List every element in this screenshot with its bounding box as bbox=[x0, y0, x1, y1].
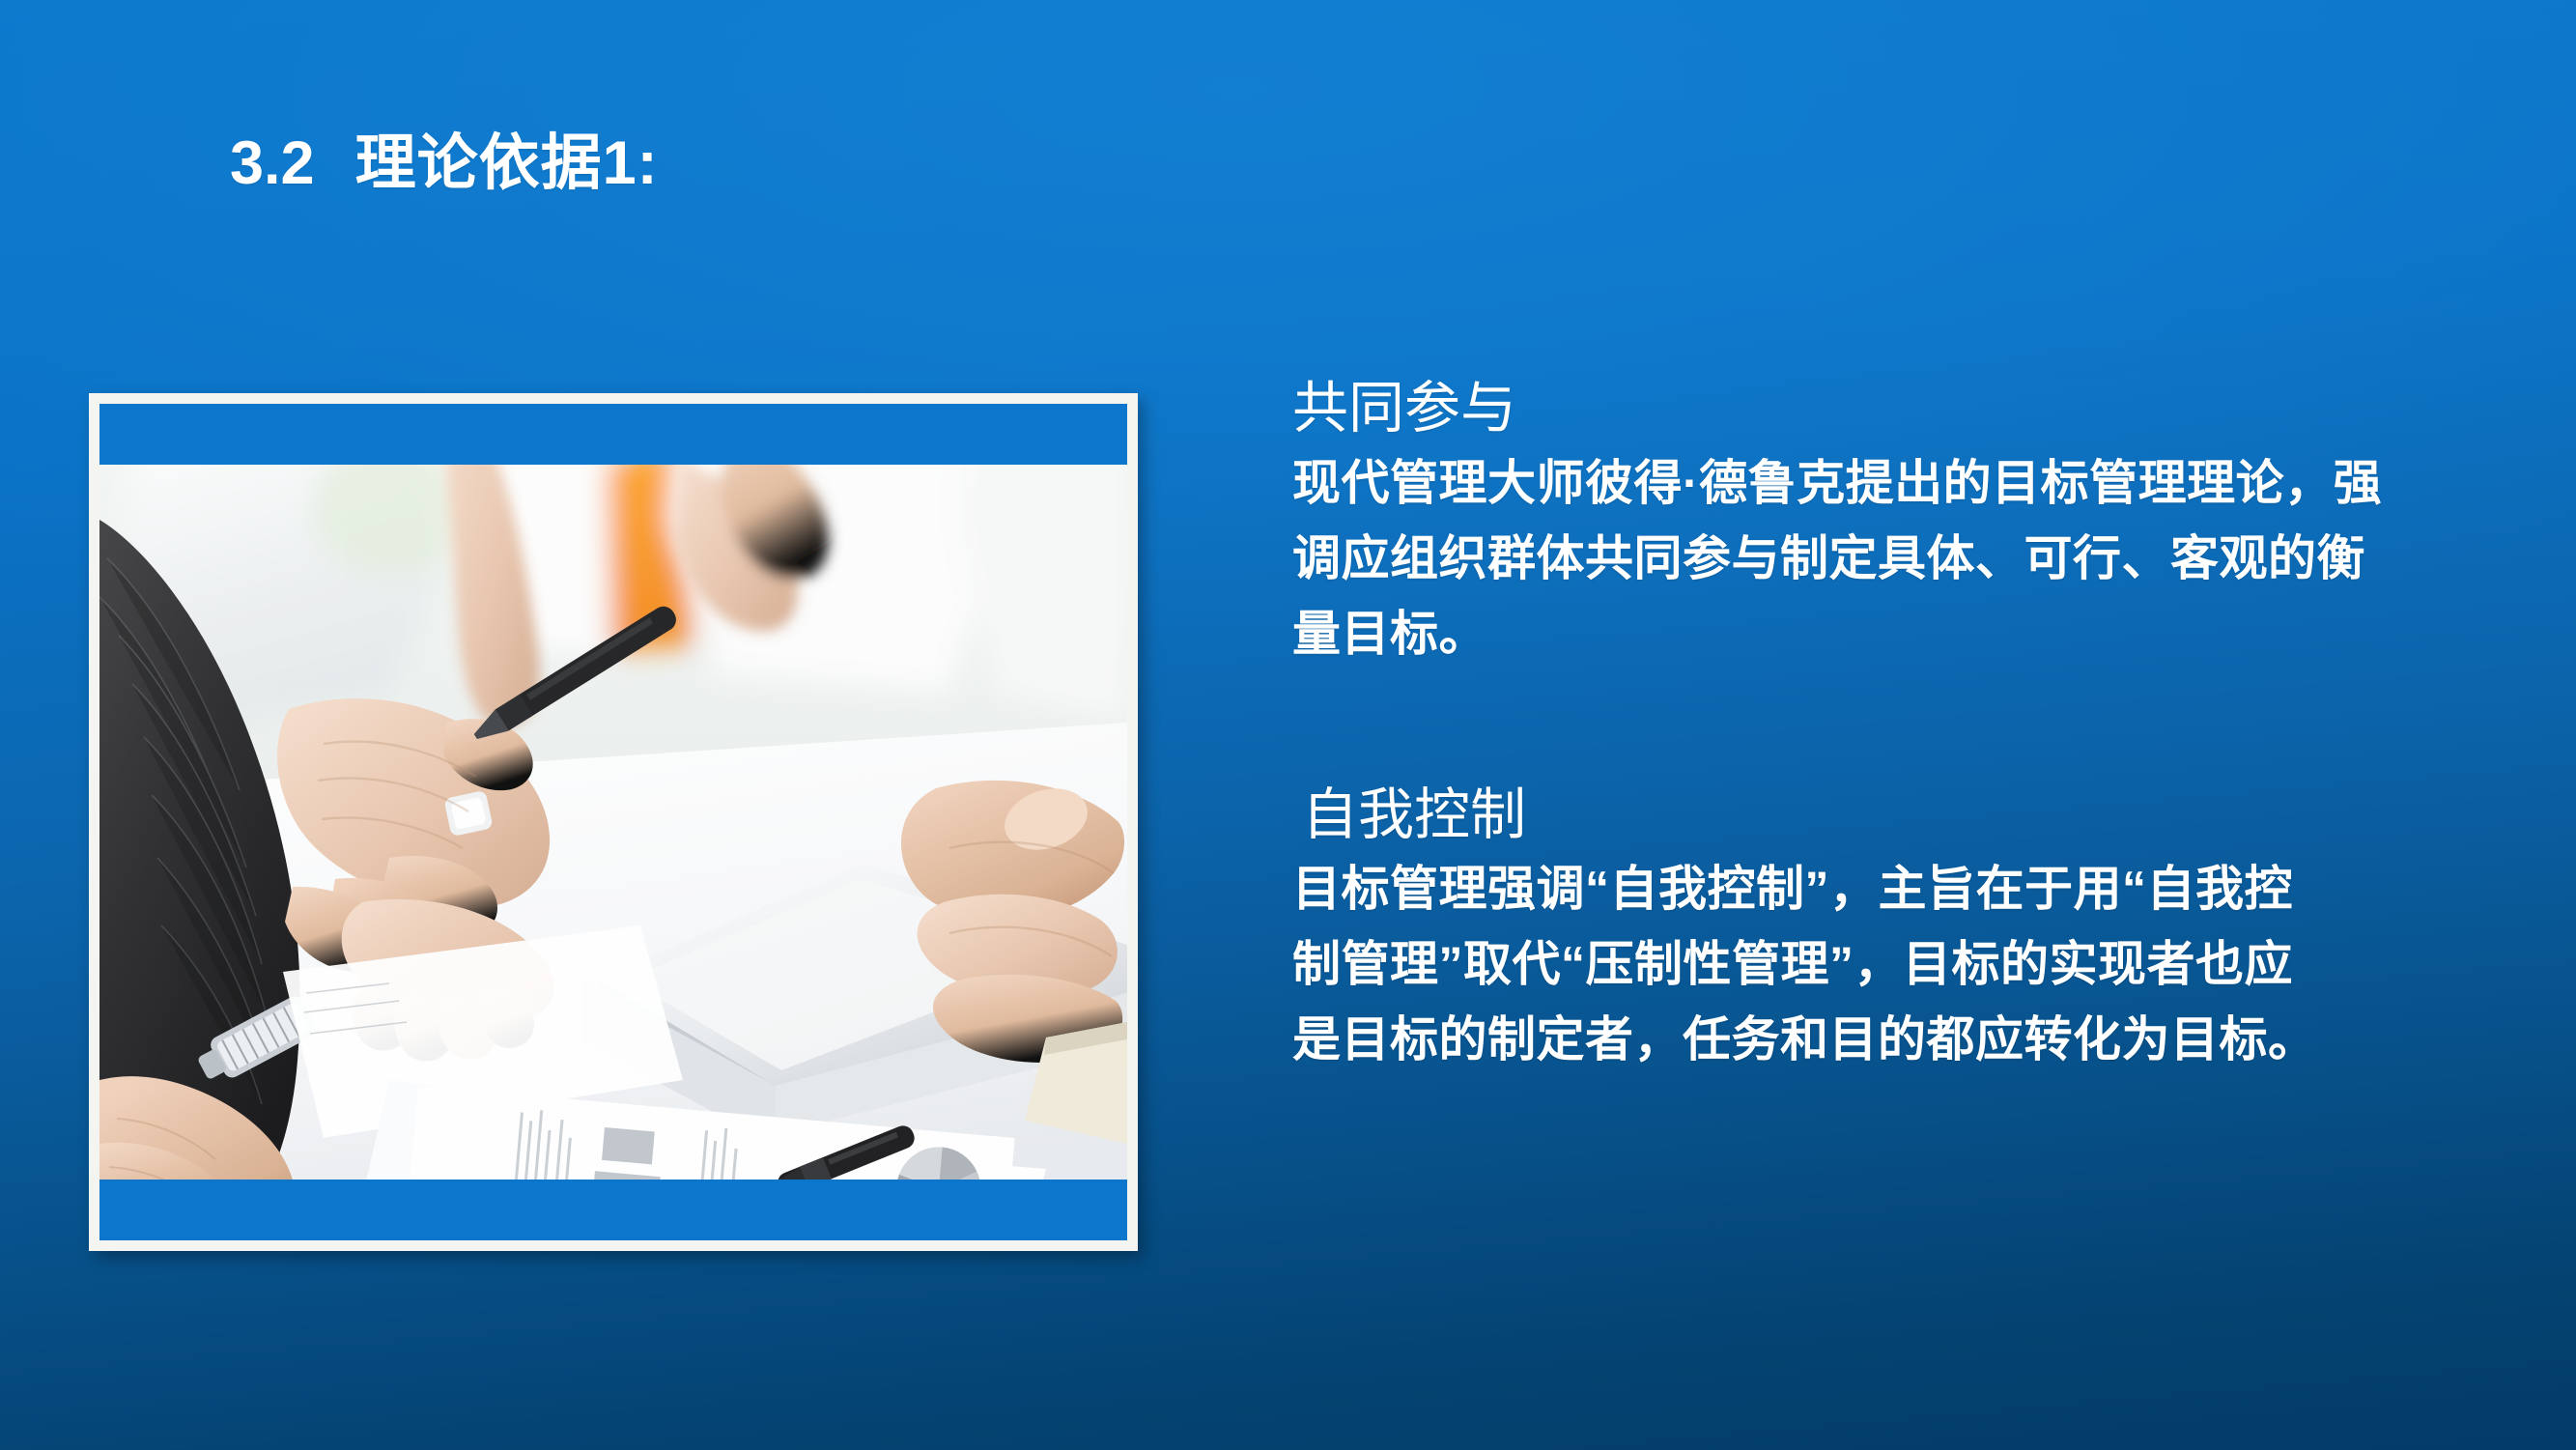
body2-line-2: 制管理”取代“压制性管理”，目标的实现者也应 bbox=[1292, 926, 2529, 1002]
body1-line-2: 调应组织群体共同参与制定具体、可行、客观的衡 bbox=[1292, 521, 2529, 596]
body1-line-1: 现代管理大师彼得·德鲁克提出的目标管理理论，强 bbox=[1292, 445, 2529, 521]
title-text: 理论依据1: bbox=[355, 129, 659, 197]
body2-line-3: 是目标的制定者，任务和目的都应转化为目标。 bbox=[1292, 1002, 2529, 1077]
photo-frame bbox=[89, 393, 1138, 1251]
section-heading-2: 自我控制 bbox=[1292, 785, 2529, 846]
content-column: 共同参与 现代管理大师彼得·德鲁克提出的目标管理理论，强 调应组织群体共同参与制… bbox=[1292, 379, 2529, 1077]
photo-inner bbox=[99, 404, 1127, 1240]
title-number: 3.2 bbox=[230, 129, 315, 197]
photo-top-bar bbox=[99, 404, 1127, 465]
section-body-2: 目标管理强调“自我控制”，主旨在于用“自我控 制管理”取代“压制性管理”，目标的… bbox=[1292, 851, 2529, 1077]
section-heading-1: 共同参与 bbox=[1292, 379, 2529, 440]
section-block-self-control: 自我控制 目标管理强调“自我控制”，主旨在于用“自我控 制管理”取代“压制性管理… bbox=[1292, 785, 2529, 1078]
body1-line-3: 量目标。 bbox=[1292, 596, 2529, 671]
photo-bottom-bar bbox=[99, 1180, 1127, 1240]
meeting-photo bbox=[99, 404, 1127, 1240]
body2-line-1: 目标管理强调“自我控制”，主旨在于用“自我控 bbox=[1292, 851, 2529, 926]
section-body-1: 现代管理大师彼得·德鲁克提出的目标管理理论，强 调应组织群体共同参与制定具体、可… bbox=[1292, 445, 2529, 671]
section-block-shared-participation: 共同参与 现代管理大师彼得·德鲁克提出的目标管理理论，强 调应组织群体共同参与制… bbox=[1292, 379, 2529, 671]
page-title: 3.2理论依据1: bbox=[230, 114, 659, 202]
